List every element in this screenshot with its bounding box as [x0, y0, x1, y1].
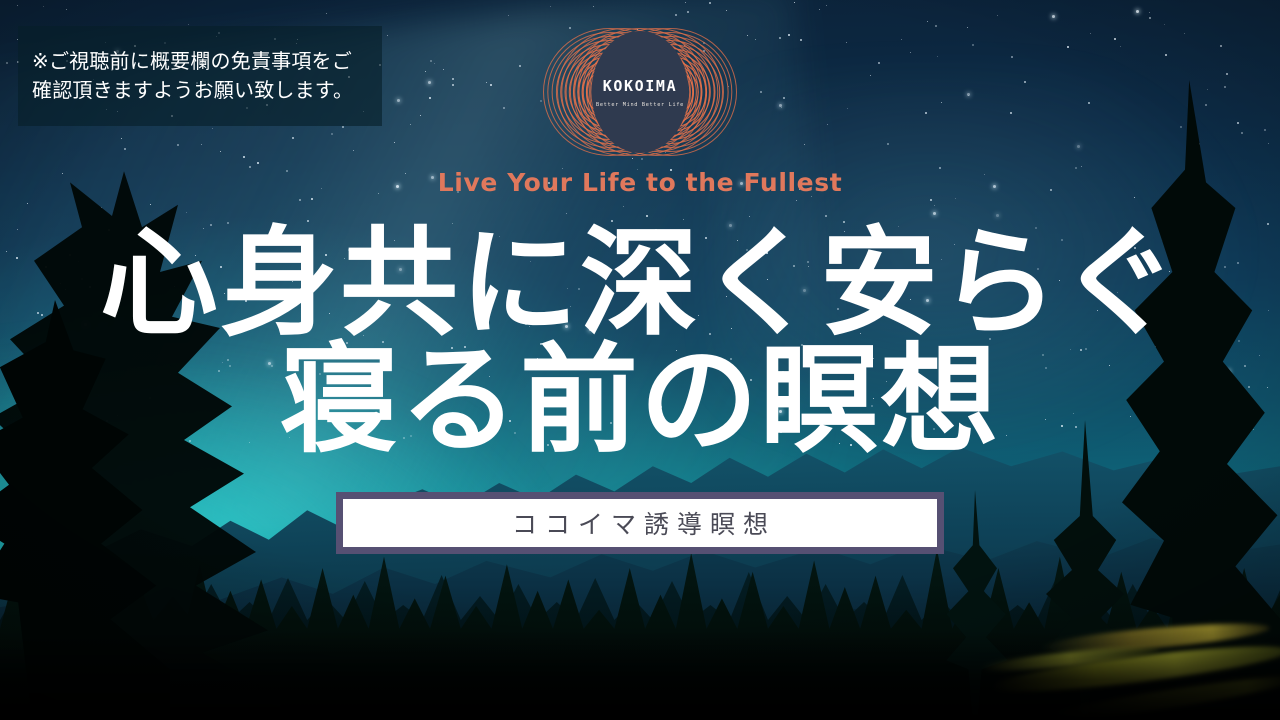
headline-block: 心身共に深く安らぐ 寝る前の瞑想	[0, 222, 1280, 461]
english-tagline: Live Your Life to the Fullest	[0, 168, 1280, 197]
disclaimer-box: ※ご視聴前に概要欄の免責事項をご確認頂きますようお願い致します。	[18, 26, 382, 126]
logo-brand-tagline: Better Mind Better Life	[596, 102, 684, 108]
kokoima-logo: KOKOIMA Better Mind Better Life	[565, 28, 715, 156]
logo-core: KOKOIMA Better Mind Better Life	[592, 31, 689, 153]
brand-box: ココイマ誘導瞑想	[336, 492, 944, 554]
headline-line-2: 寝る前の瞑想	[0, 339, 1280, 462]
thumbnail-canvas: ※ご視聴前に概要欄の免責事項をご確認頂きますようお願い致します。 KOKOIMA…	[0, 0, 1280, 720]
logo-brand-name: KOKOIMA	[603, 77, 677, 95]
brand-box-label: ココイマ誘導瞑想	[504, 505, 776, 541]
grass-patch	[950, 580, 1280, 720]
disclaimer-text: ※ご視聴前に概要欄の免責事項をご確認頂きますようお願い致します。	[32, 47, 368, 105]
headline-line-1: 心身共に深く安らぐ	[0, 222, 1280, 345]
